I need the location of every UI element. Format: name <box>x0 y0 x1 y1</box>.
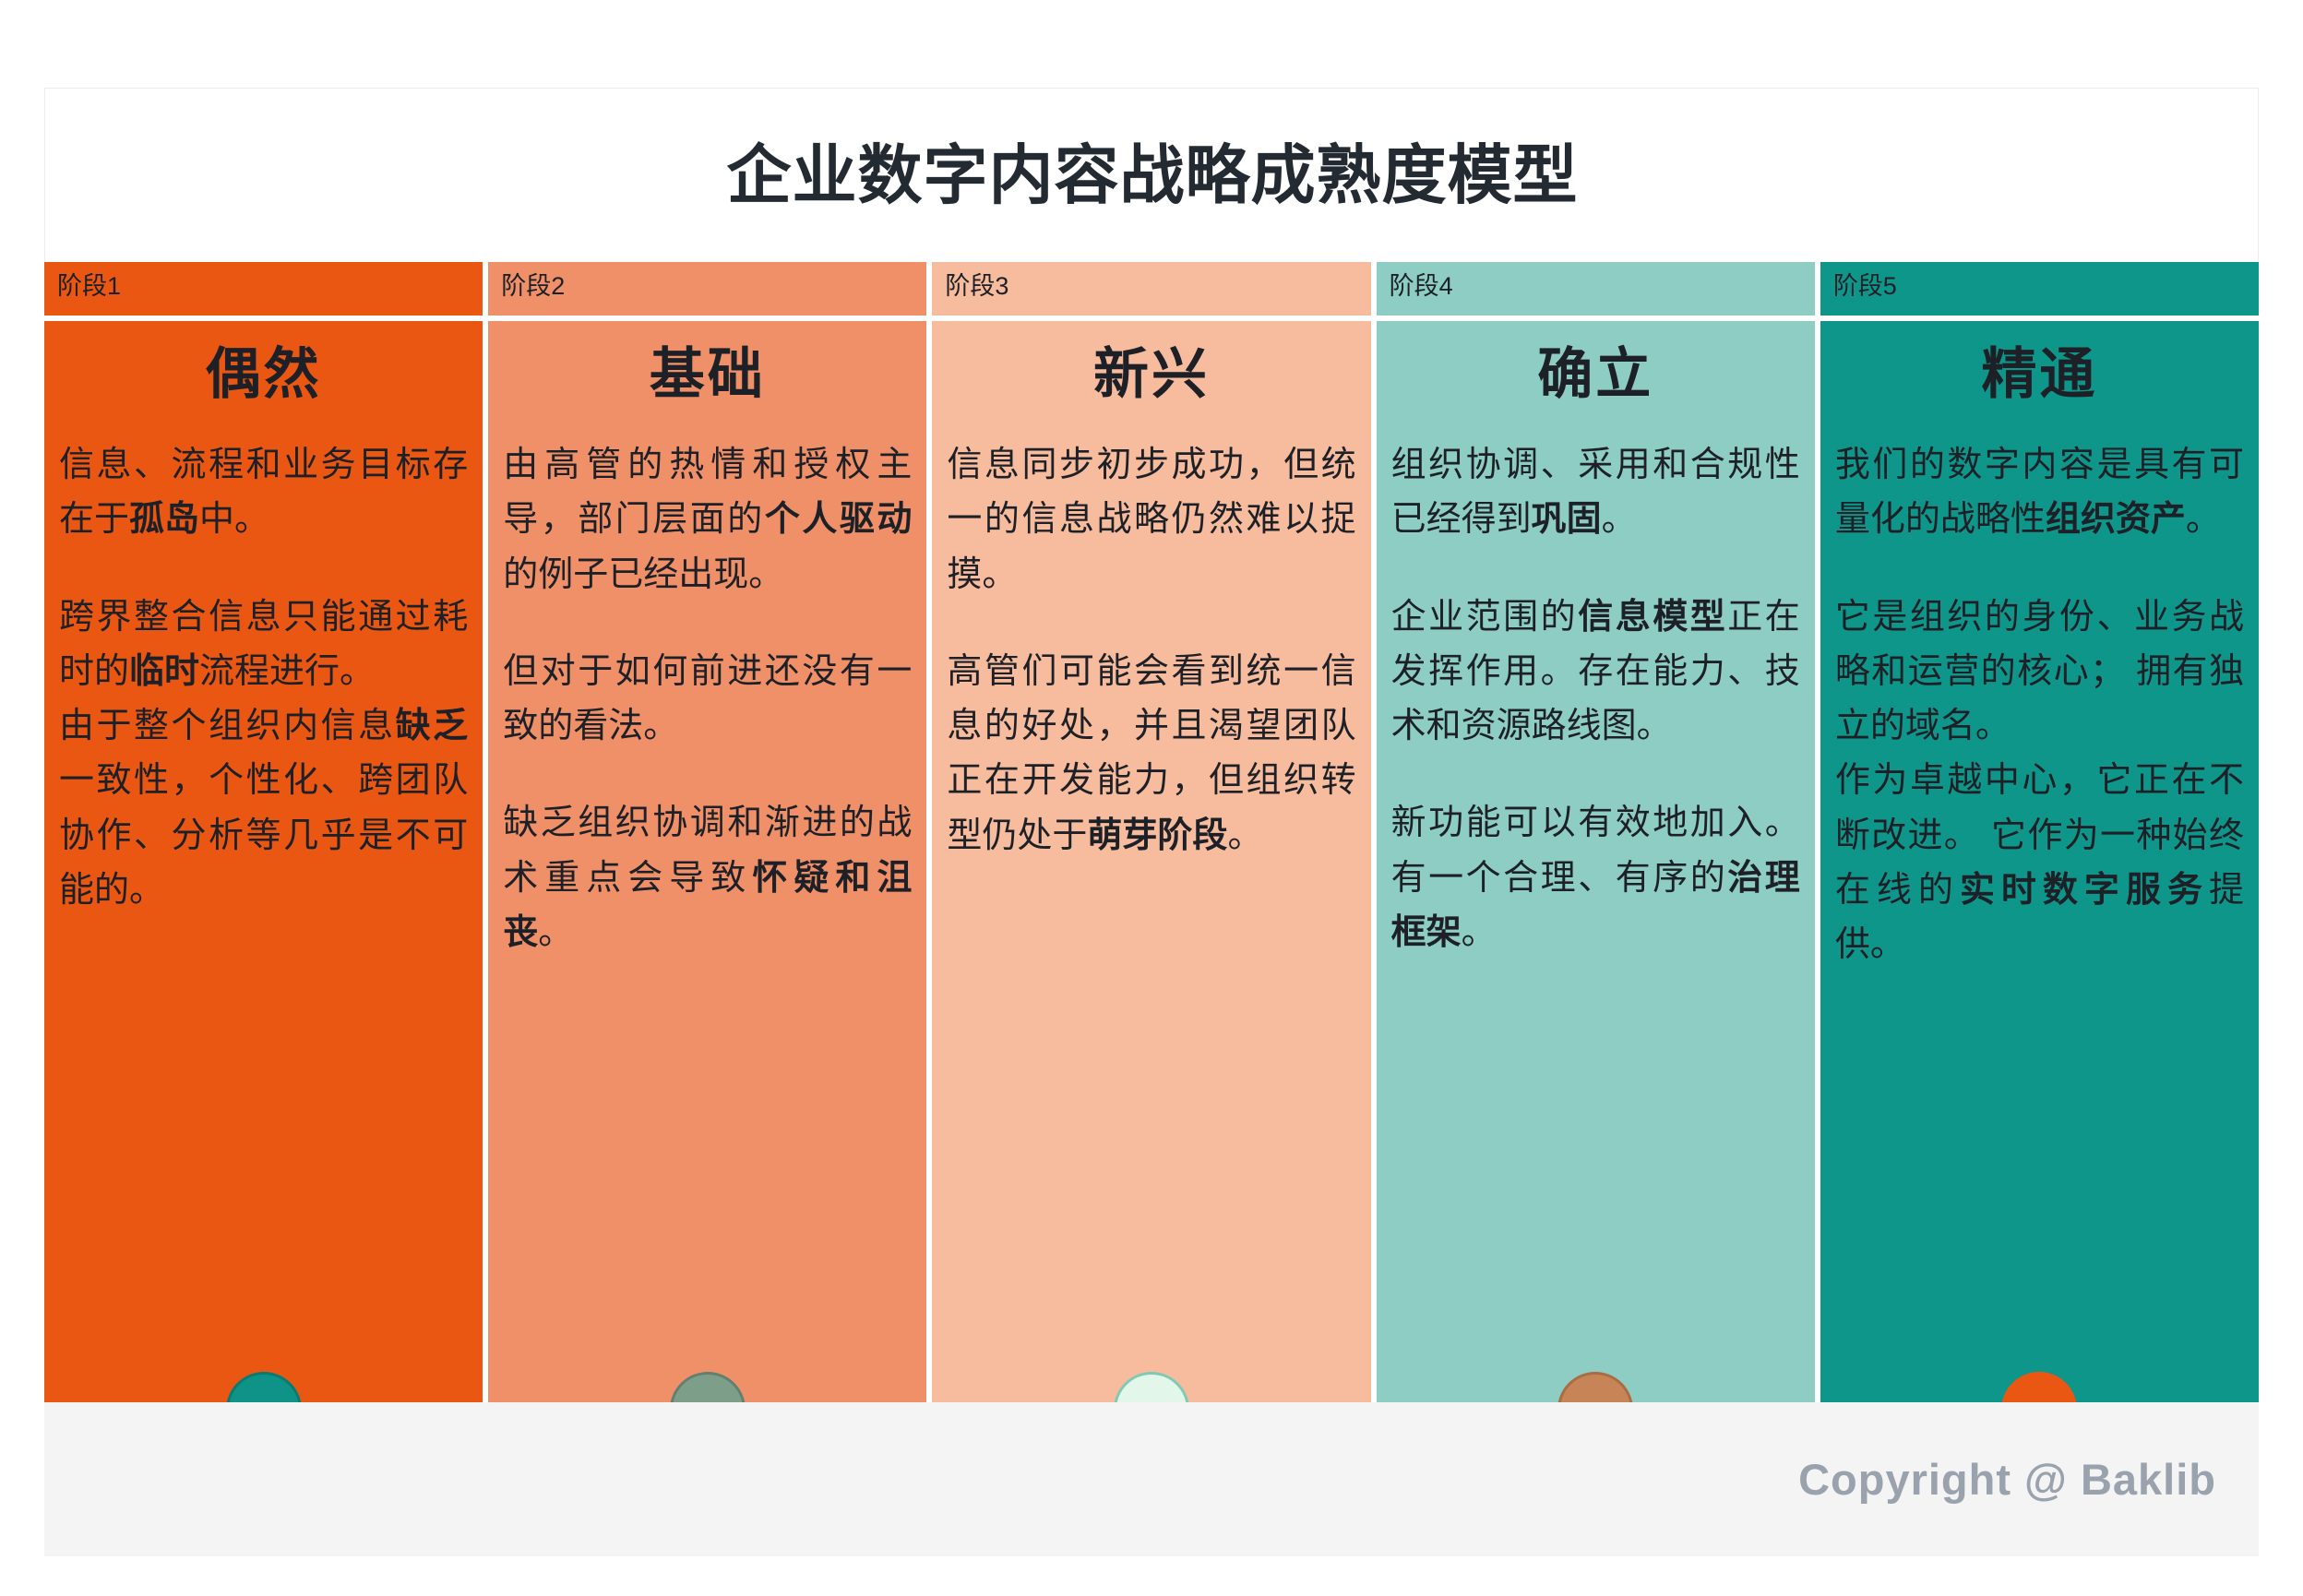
description-paragraph: 缺乏组织协调和渐进的战术重点会导致怀疑和沮丧。 <box>503 796 912 960</box>
stage-column-4[interactable]: 阶段4确立组织协调、采用和合规性已经得到巩固。企业范围的信息模型正在发挥作用。存… <box>1377 262 1815 1460</box>
description-paragraph: 我们的数字内容是具有可量化的战略性组织资产。 <box>1835 438 2244 548</box>
stage-columns: 阶段1偶然信息、流程和业务目标存在于孤岛中。跨界整合信息只能通过耗时的临时流程进… <box>44 262 2259 1460</box>
description-paragraph: 新功能可以有效地加入。 有一个合理、有序的治理框架。 <box>1391 796 1800 960</box>
stage-column-5[interactable]: 阶段5精通我们的数字内容是具有可量化的战略性组织资产。它是组织的身份、业务战略和… <box>1820 262 2259 1460</box>
stage-name-3: 新兴 <box>932 321 1370 418</box>
stage-description-3: 信息同步初步成功，但统一的信息战略仍然难以捉摸。高管们可能会看到统一信息的好处，… <box>932 418 1370 1359</box>
description-paragraph: 高管们可能会看到统一信息的好处，并且渴望团队正在开发能力，但组织转型仍处于萌芽阶… <box>947 645 1355 864</box>
description-paragraph: 信息、流程和业务目标存在于孤岛中。 <box>59 438 468 548</box>
description-paragraph: 跨界整合信息只能通过耗时的临时流程进行。由于整个组织内信息缺乏一致性，个性化、跨… <box>59 590 468 919</box>
description-paragraph: 由高管的热情和授权主导，部门层面的个人驱动的例子已经出现。 <box>503 438 912 602</box>
stage-description-4: 组织协调、采用和合规性已经得到巩固。企业范围的信息模型正在发挥作用。存在能力、技… <box>1377 418 1815 1359</box>
stage-description-2: 由高管的热情和授权主导，部门层面的个人驱动的例子已经出现。但对于如何前进还没有一… <box>488 418 926 1359</box>
stage-label-5: 阶段5 <box>1820 262 2259 316</box>
stage-name-5: 精通 <box>1820 321 2259 418</box>
stage-label-3: 阶段3 <box>932 262 1370 316</box>
stage-label-1: 阶段1 <box>44 262 483 316</box>
stage-column-2[interactable]: 阶段2基础由高管的热情和授权主导，部门层面的个人驱动的例子已经出现。但对于如何前… <box>488 262 926 1460</box>
stage-name-1: 偶然 <box>44 321 483 418</box>
maturity-model-page: 企业数字内容战略成熟度模型 阶段1偶然信息、流程和业务目标存在于孤岛中。跨界整合… <box>0 0 2303 1596</box>
stage-column-3[interactable]: 阶段3新兴信息同步初步成功，但统一的信息战略仍然难以捉摸。高管们可能会看到统一信… <box>932 262 1370 1460</box>
description-paragraph: 但对于如何前进还没有一致的看法。 <box>503 645 912 755</box>
stage-description-5: 我们的数字内容是具有可量化的战略性组织资产。它是组织的身份、业务战略和运营的核心… <box>1820 418 2259 1359</box>
maturity-model-card: 企业数字内容战略成熟度模型 阶段1偶然信息、流程和业务目标存在于孤岛中。跨界整合… <box>44 88 2259 1554</box>
stage-description-1: 信息、流程和业务目标存在于孤岛中。跨界整合信息只能通过耗时的临时流程进行。由于整… <box>44 418 483 1359</box>
page-title: 企业数字内容战略成熟度模型 <box>45 124 2260 217</box>
description-paragraph: 信息同步初步成功，但统一的信息战略仍然难以捉摸。 <box>947 438 1355 602</box>
description-paragraph: 组织协调、采用和合规性已经得到巩固。 <box>1391 438 1800 548</box>
stage-name-4: 确立 <box>1377 321 1815 418</box>
copyright-text: Copyright @ Baklib <box>1798 1454 2216 1505</box>
description-paragraph: 企业范围的信息模型正在发挥作用。存在能力、技术和资源路线图。 <box>1391 590 1800 755</box>
stage-name-2: 基础 <box>488 321 926 418</box>
stage-column-1[interactable]: 阶段1偶然信息、流程和业务目标存在于孤岛中。跨界整合信息只能通过耗时的临时流程进… <box>44 262 483 1460</box>
description-paragraph: 它是组织的身份、业务战略和运营的核心； 拥有独立的域名。作为卓越中心，它正在不断… <box>1835 590 2244 973</box>
footer-bar: Copyright @ Baklib <box>44 1402 2259 1556</box>
stage-label-4: 阶段4 <box>1377 262 1815 316</box>
stage-label-2: 阶段2 <box>488 262 926 316</box>
